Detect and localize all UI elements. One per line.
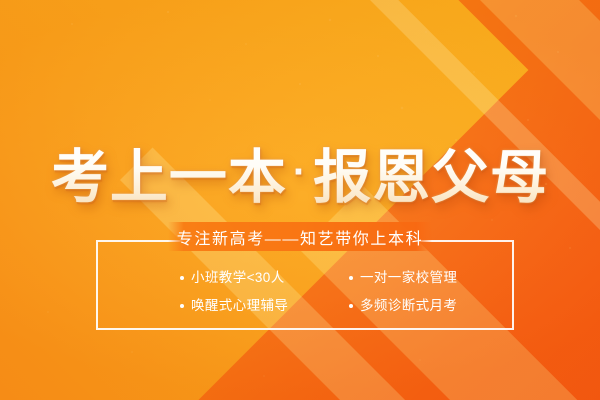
feature-label: 多频诊断式月考 bbox=[360, 294, 457, 317]
bullet-icon bbox=[180, 276, 184, 280]
bullet-icon bbox=[180, 304, 184, 308]
promo-banner: 考上一本·报恩父母 专注新高考——知艺带你上本科 小班教学<30人 一对一家校管… bbox=[0, 0, 600, 400]
headline-container: 考上一本·报恩父母 bbox=[0, 139, 600, 211]
bullet-icon bbox=[349, 276, 353, 280]
headline-left-text: 考上一本 bbox=[51, 145, 287, 210]
list-item: 一对一家校管理 bbox=[305, 266, 514, 289]
feature-list: 小班教学<30人 一对一家校管理 唤醒式心理辅导 多频诊断式月考 bbox=[96, 266, 514, 317]
bullet-icon bbox=[349, 304, 353, 308]
feature-label: 小班教学<30人 bbox=[191, 266, 285, 289]
feature-label: 唤醒式心理辅导 bbox=[191, 294, 288, 317]
headline-separator-dot: · bbox=[287, 150, 313, 194]
headline: 考上一本·报恩父母 bbox=[51, 139, 549, 211]
feature-label: 一对一家校管理 bbox=[360, 266, 457, 289]
list-item: 多频诊断式月考 bbox=[305, 294, 514, 317]
headline-right-text: 报恩父母 bbox=[313, 145, 549, 210]
list-item: 唤醒式心理辅导 bbox=[96, 294, 305, 317]
list-item: 小班教学<30人 bbox=[96, 266, 305, 289]
